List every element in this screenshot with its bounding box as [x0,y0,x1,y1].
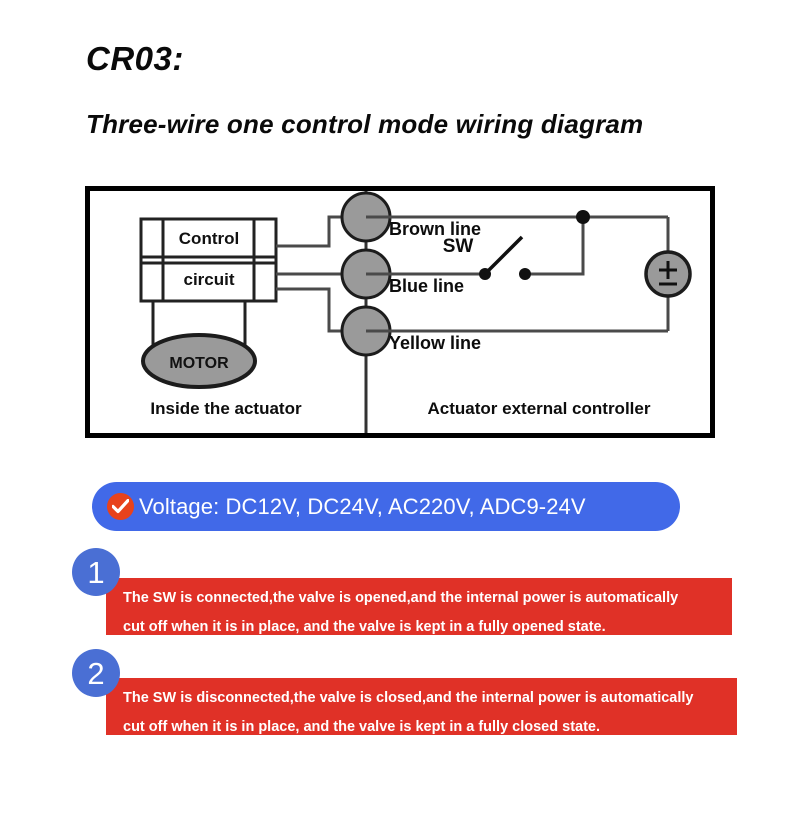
junction-dot [576,210,590,224]
note-number-badge: 1 [72,548,120,596]
power-source-symbol [646,252,690,296]
note-line-1: The SW is disconnected,the valve is clos… [123,691,737,706]
switch-contact-dot [519,268,531,280]
right-section-label: Actuator external controller [428,399,651,418]
check-circle-icon [107,493,134,520]
terminal-label-blue: Blue line [389,276,464,296]
voltage-label: Voltage: DC12V, DC24V, AC220V, ADC9-24V [139,494,586,520]
left-section-label: Inside the actuator [150,399,302,418]
motor-label: MOTOR [169,355,229,372]
note-line-1: The SW is connected,the valve is opened,… [123,591,732,606]
page-root: CR03: Three-wire one control mode wiring… [0,0,801,822]
page-title: CR03: [86,40,184,78]
switch-label: SW [443,236,474,257]
control-box-line1: Control [179,229,239,248]
note-text-box: The SW is connected,the valve is opened,… [106,578,732,635]
voltage-banner: Voltage: DC12V, DC24V, AC220V, ADC9-24V [92,482,680,531]
note-number-badge: 2 [72,649,120,697]
control-box-line2: circuit [183,270,234,289]
page-subtitle: Three-wire one control mode wiring diagr… [86,109,643,140]
note-line-2: cut off when it is in place, and the val… [123,720,737,735]
terminal-label-yellow: Yellow line [389,333,481,353]
wiring-diagram: Control circuit MOTOR [85,186,715,438]
note-text-box: The SW is disconnected,the valve is clos… [106,678,737,735]
note-line-2: cut off when it is in place, and the val… [123,620,732,635]
